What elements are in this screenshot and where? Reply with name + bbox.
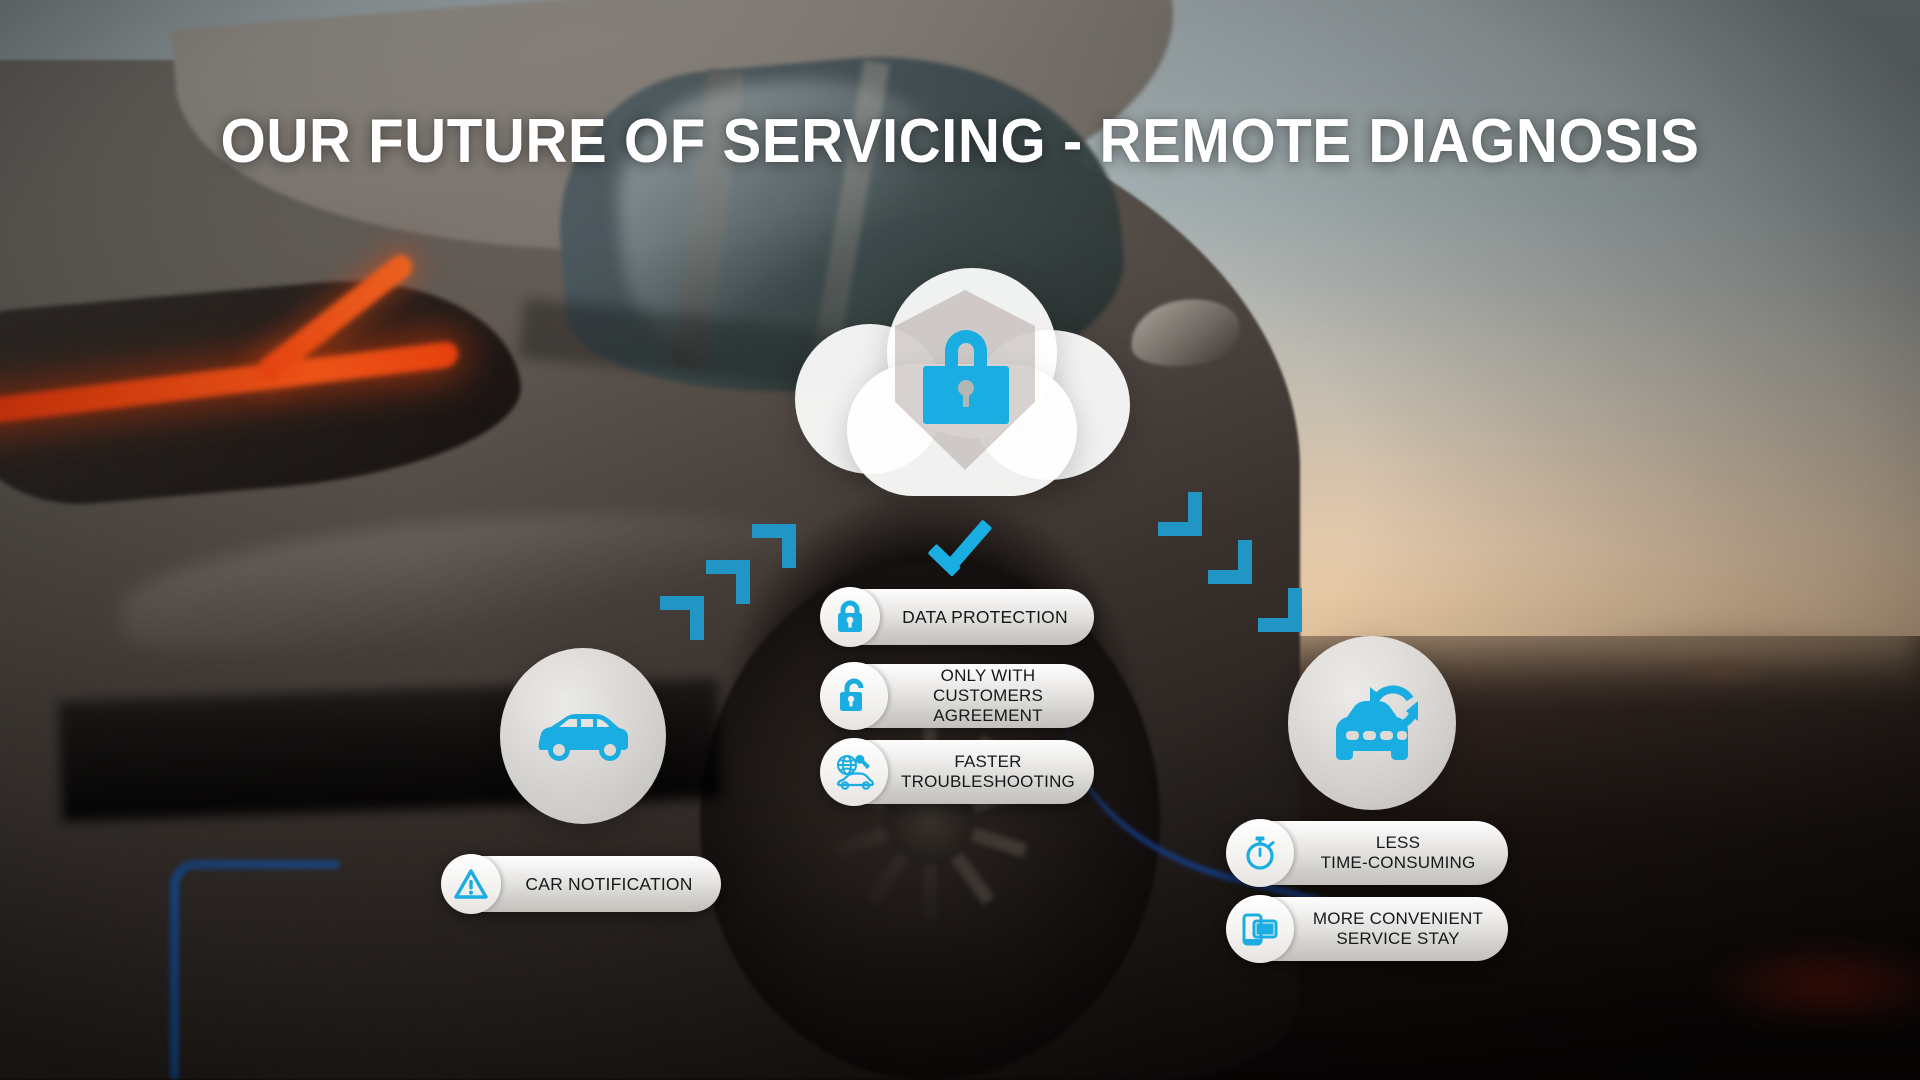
- car-side-icon: [533, 708, 633, 764]
- slide-canvas: OUR FUTURE OF SERVICING - REMOTE DIAGNOS…: [0, 0, 1920, 1080]
- padlock-unlocked-icon: [820, 662, 888, 730]
- checkmark-icon: [930, 520, 1000, 574]
- pill-label-line1: FASTER: [954, 752, 1021, 771]
- warning-triangle-icon: [441, 854, 501, 914]
- pill-only-with-customers-agreement[interactable]: ONLY WITH CUSTOMERS AGREEMENT: [822, 664, 1094, 728]
- secure-cloud-node: [795, 268, 1130, 518]
- slide-title: OUR FUTURE OF SERVICING - REMOTE DIAGNOS…: [58, 106, 1863, 177]
- chevron-down-right-icon: [1208, 540, 1252, 584]
- pill-label-line2: TROUBLESHOOTING: [901, 772, 1075, 791]
- padlock-locked-icon: [820, 587, 880, 647]
- pill-faster-troubleshooting[interactable]: FASTER TROUBLESHOOTING: [822, 740, 1094, 804]
- pill-data-protection[interactable]: DATA PROTECTION: [822, 589, 1094, 645]
- pill-label: ONLY WITH CUSTOMERS AGREEMENT: [898, 666, 1094, 726]
- pill-label-line2: TIME-CONSUMING: [1321, 853, 1476, 872]
- pill-less-time-consuming[interactable]: LESS TIME-CONSUMING: [1228, 821, 1508, 885]
- pill-car-notification[interactable]: CAR NOTIFICATION: [443, 856, 721, 912]
- stopwatch-icon: [1226, 819, 1294, 887]
- pill-label-line2: AGREEMENT: [933, 706, 1042, 725]
- chevron-up-right-icon: [660, 596, 704, 640]
- pill-label: MORE CONVENIENT SERVICE STAY: [1304, 909, 1508, 949]
- car-front-refresh-icon: [1320, 675, 1424, 771]
- phone-tablet-icon: [1226, 895, 1294, 963]
- pill-label-line1: MORE CONVENIENT: [1313, 909, 1483, 928]
- chevron-down-right-icon: [1158, 492, 1202, 536]
- pill-label-line1: ONLY WITH CUSTOMERS: [933, 666, 1043, 705]
- pill-label-line1: LESS: [1376, 833, 1420, 852]
- pill-label: LESS TIME-CONSUMING: [1304, 833, 1508, 873]
- chevron-up-right-icon: [706, 560, 750, 604]
- chevron-up-right-icon: [752, 524, 796, 568]
- globe-wrench-car-icon: [820, 738, 888, 806]
- pill-label: FASTER TROUBLESHOOTING: [898, 752, 1094, 792]
- right-circle-badge: [1288, 636, 1456, 810]
- pill-label: CAR NOTIFICATION: [513, 874, 721, 895]
- left-circle-badge: [500, 648, 666, 824]
- pill-more-convenient-service-stay[interactable]: MORE CONVENIENT SERVICE STAY: [1228, 897, 1508, 961]
- padlock-locked-icon: [923, 330, 1009, 424]
- pill-label: DATA PROTECTION: [892, 607, 1094, 628]
- pill-label-line2: SERVICE STAY: [1336, 929, 1459, 948]
- chevron-down-right-icon: [1258, 588, 1302, 632]
